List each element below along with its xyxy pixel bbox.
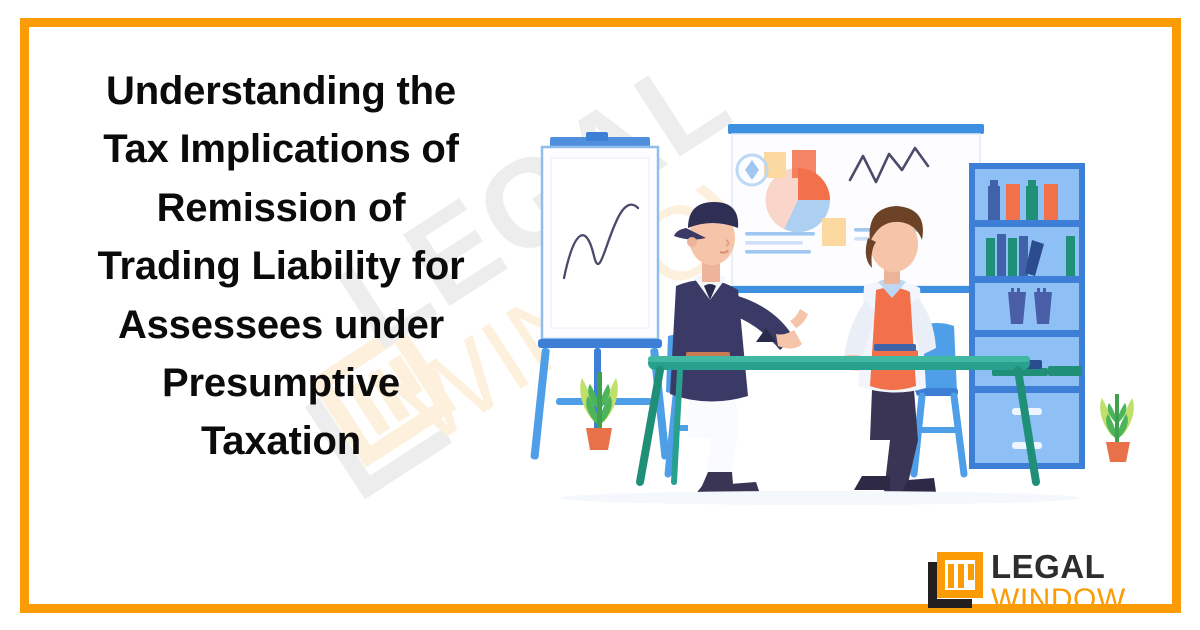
whiteboard-icon [728, 124, 984, 337]
headline: Understanding the Tax Implications of Re… [42, 62, 520, 471]
headline-line-2: Tax Implications of [42, 120, 520, 178]
logo-legal-text: LEGAL [991, 550, 1126, 583]
headline-line-7: Taxation [42, 412, 520, 470]
potted-plant-left-icon [580, 372, 618, 450]
headline-line-5: Assessees under [42, 296, 520, 354]
illustration [520, 110, 1180, 510]
logo-rule-right [1063, 605, 1129, 612]
headline-line-3: Remission of [42, 179, 520, 237]
legal-window-logo: LEGAL WINDOW [928, 550, 1133, 612]
headline-line-6: Presumptive [42, 354, 520, 412]
headline-line-1: Understanding the [42, 62, 520, 120]
banner-root: LEGAL WINDOW Understanding the Tax Impli… [0, 0, 1200, 630]
potted-plant-right-icon [1100, 394, 1134, 462]
logo-rule-left [894, 605, 932, 612]
headline-line-4: Trading Liability for [42, 237, 520, 295]
legal-window-monogram-icon [928, 552, 983, 608]
